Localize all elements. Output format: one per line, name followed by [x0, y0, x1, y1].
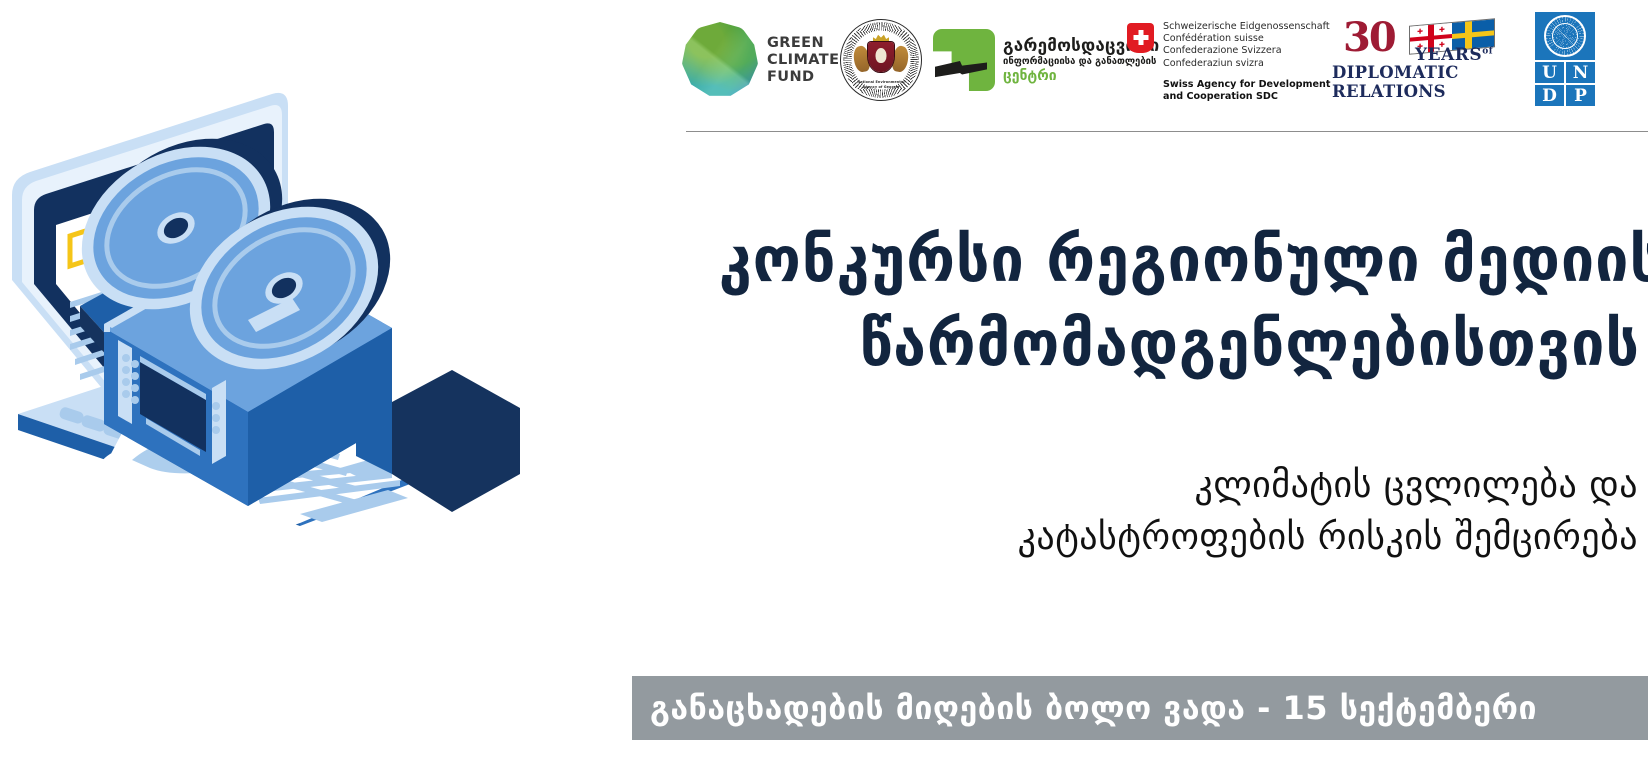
logo-undp: U N D P	[1522, 12, 1608, 108]
camera-lens-hood	[392, 370, 520, 512]
sdc-agency-line-1: Swiss Agency for Development	[1163, 79, 1330, 91]
georgia-state-seal-icon: National Environmental Agency of Georgia	[840, 19, 922, 101]
sdc-line-fr: Confédération suisse	[1163, 33, 1330, 45]
sdc-line-de: Schweizerische Eidgenossenschaft	[1163, 21, 1330, 33]
undp-letter-u: U	[1535, 62, 1564, 83]
camera-panel-right-rail	[212, 380, 226, 464]
headline-block: კონკურსი რეგიონული მედიის წარმომადგენლებ…	[660, 218, 1648, 386]
diplomatic-number-30: 30	[1343, 18, 1395, 58]
gcf-line-1: GREEN	[767, 35, 839, 52]
undp-letter-d: D	[1535, 85, 1564, 106]
diplomatic-years-label: YEARSof	[1415, 45, 1493, 65]
undp-letter-p: P	[1566, 85, 1595, 106]
swiss-cross-flag-icon	[1127, 23, 1154, 53]
logo-swiss-agency-sdc: Schweizerische Eidgenossenschaft Confédé…	[1127, 7, 1332, 113]
partner-logo-strip: GREEN CLIMATE FUND National Environmenta…	[678, 6, 1648, 114]
logo-green-climate-fund: GREEN CLIMATE FUND	[678, 14, 833, 106]
deadline-bar: განაცხადების მიღების ბოლო ვადა - 15 სექტ…	[632, 676, 1648, 740]
gcf-line-2: CLIMATE	[767, 52, 839, 69]
header-divider	[686, 131, 1648, 132]
sdc-line-rm: Confederaziun svizra	[1163, 58, 1330, 70]
headline-line-2: წარმომადგენლებისთვის	[719, 302, 1640, 386]
undp-letter-grid: U N D P	[1535, 62, 1595, 106]
undp-letter-n: N	[1566, 62, 1595, 83]
seal-bottom-text: National Environmental Agency of Georgia	[841, 80, 921, 89]
un-globe-laurel-icon	[1535, 12, 1595, 60]
diplomatic-relations-label: DIPLOMATIC RELATIONS	[1332, 63, 1522, 101]
green-book-mark-icon	[933, 29, 995, 91]
gcf-line-3: FUND	[767, 69, 839, 86]
logo-national-environmental-agency: National Environmental Agency of Georgia	[833, 14, 929, 106]
isometric-laptop-newspaper-film-camera-illustration	[0, 70, 700, 630]
gcf-wordmark: GREEN CLIMATE FUND	[767, 35, 839, 86]
sdc-agency-line-2: and Cooperation SDC	[1163, 91, 1330, 103]
logo-environmental-information-centre: გარემოსდაცვითი ინფორმაციისა და განათლები…	[929, 14, 1127, 106]
seal-shield-icon	[868, 42, 894, 72]
deadline-text: განაცხადების მიღების ბოლო ვადა - 15 სექტ…	[632, 676, 1537, 740]
sdc-wordmark: Schweizerische Eidgenossenschaft Confédé…	[1163, 21, 1330, 103]
sdc-line-it: Confederazione Svizzera	[1163, 45, 1330, 57]
subtitle-line-1: კლიმატის ცვლილება და	[700, 460, 1638, 512]
subtitle-line-2: კატასტროფების რისკის შემცირება	[700, 512, 1638, 564]
poster-canvas: GREEN CLIMATE FUND National Environmenta…	[0, 0, 1648, 768]
subtitle-block: კლიმატის ცვლილება და კატასტროფების რისკი…	[700, 460, 1648, 564]
logo-30-years-diplomatic-relations: 30 ✚✚✚✚ YEARSof DIPLOMATIC RELATIONS	[1332, 14, 1522, 106]
headline-line-1: კონკურსი რეგიონული მედიის	[719, 218, 1640, 302]
